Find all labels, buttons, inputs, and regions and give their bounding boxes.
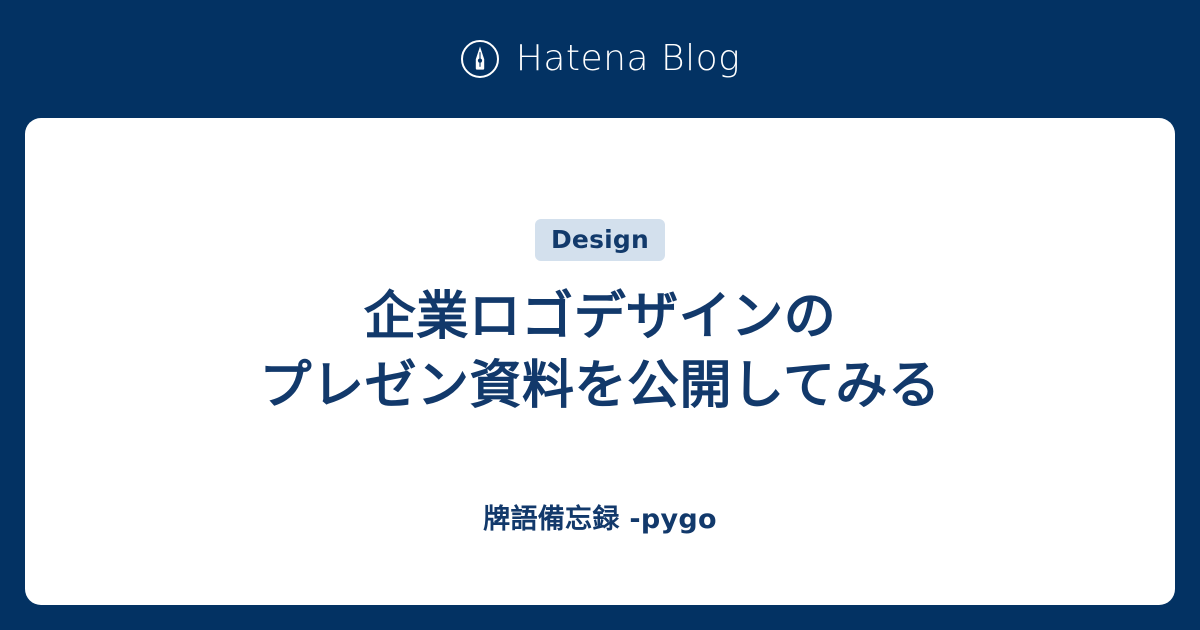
blog-name: 牌語備忘録 -pygo bbox=[483, 504, 717, 536]
entry-title: 企業ロゴデザインの プレゼン資料を公開してみる bbox=[260, 283, 941, 420]
entry-title-line-2: プレゼン資料を公開してみる bbox=[260, 352, 941, 421]
entry-card-content: Design 企業ロゴデザインの プレゼン資料を公開してみる 牌語備忘録 -py… bbox=[25, 118, 1175, 537]
hatena-blog-brand-lockup: Hatena Blog bbox=[0, 0, 1200, 118]
entry-card: Design 企業ロゴデザインの プレゼン資料を公開してみる 牌語備忘録 -py… bbox=[25, 118, 1175, 605]
category-badge[interactable]: Design bbox=[535, 219, 665, 261]
hatena-pen-nib-icon bbox=[460, 39, 500, 79]
og-image-canvas: Hatena Blog Design 企業ロゴデザインの プレゼン資料を公開して… bbox=[0, 0, 1200, 630]
entry-title-line-1: 企業ロゴデザインの bbox=[260, 283, 941, 352]
hatena-blog-service-name: Hatena Blog bbox=[516, 39, 740, 79]
